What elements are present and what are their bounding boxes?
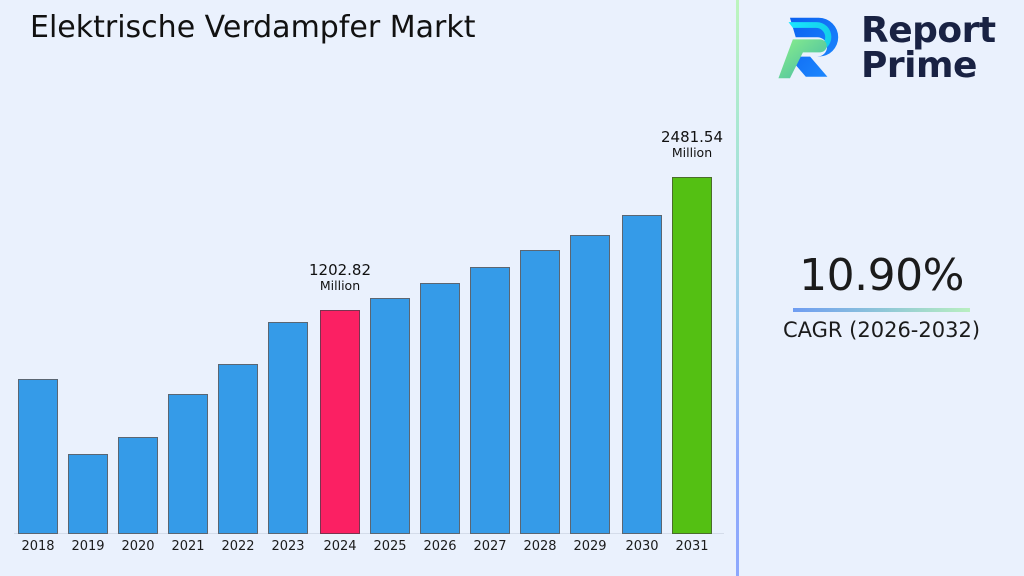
- x-tick-2029: 2029: [560, 539, 620, 554]
- brand-line-2: Prime: [861, 48, 996, 83]
- bar-2029: [570, 235, 610, 534]
- brand-logo: Report Prime: [777, 12, 996, 84]
- bar-2027: [470, 267, 510, 534]
- bar-2024: [320, 310, 360, 534]
- bar-value-label-2031: 2481.54Million: [632, 129, 752, 160]
- bar-value-unit-2024: Million: [280, 279, 400, 293]
- bar-2030: [622, 215, 662, 534]
- bar-chart-plot-area: 1202.82Million2481.54Million 20182019202…: [0, 0, 737, 576]
- brand-line-1: Report: [861, 13, 996, 48]
- side-panel: Report Prime 10.90% CAGR (2026-2032): [739, 0, 1024, 576]
- bar-2019: [68, 454, 108, 534]
- cagr-divider-rule: [793, 308, 970, 312]
- brand-wordmark: Report Prime: [861, 13, 996, 84]
- bar-2023: [268, 322, 308, 534]
- bar-2028: [520, 250, 560, 534]
- report-prime-logo-icon: [777, 12, 849, 84]
- x-tick-2023: 2023: [258, 539, 318, 554]
- bar-2018: [18, 379, 58, 534]
- bar-2022: [218, 364, 258, 534]
- chart-infographic-page: Elektrische Verdampfer Markt 1202.82Mill…: [0, 0, 1024, 576]
- bar-value-label-2024: 1202.82Million: [280, 262, 400, 293]
- bar-2025: [370, 298, 410, 534]
- bar-value-2024: 1202.82: [280, 262, 400, 279]
- bar-value-unit-2031: Million: [632, 146, 752, 160]
- bar-value-2031: 2481.54: [632, 129, 752, 146]
- bar-2021: [168, 394, 208, 534]
- cagr-caption: CAGR (2026-2032): [739, 318, 1024, 342]
- bar-2031: [672, 177, 712, 534]
- cagr-block: 10.90% CAGR (2026-2032): [739, 250, 1024, 342]
- bar-2020: [118, 437, 158, 534]
- x-tick-2031: 2031: [662, 539, 722, 554]
- cagr-value: 10.90%: [739, 250, 1024, 301]
- bar-2026: [420, 283, 460, 534]
